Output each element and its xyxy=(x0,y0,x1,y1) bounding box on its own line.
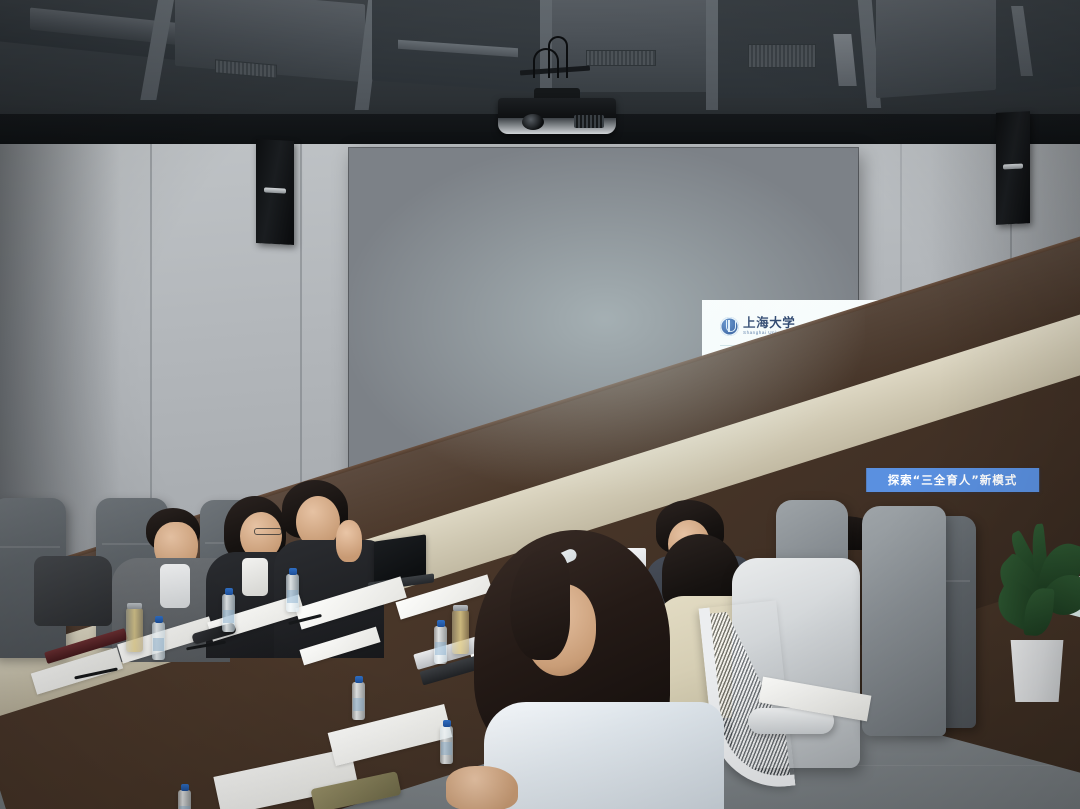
torso-white-shirt xyxy=(484,702,724,809)
projector-vent xyxy=(574,115,604,128)
office-chair xyxy=(862,506,946,736)
water-bottle[interactable] xyxy=(178,790,191,809)
potted-plant xyxy=(985,522,1080,707)
clasped-hands xyxy=(336,520,362,562)
conference-room-photo: 上海大学 Shanghai University （一）基本情况 导师 职责 思… xyxy=(0,0,1080,809)
hair-front-strand xyxy=(510,550,570,660)
slide-banner: 探索“三全育人”新模式 xyxy=(866,468,1040,492)
university-name-cn: 上海大学 xyxy=(743,317,795,330)
projector-cable-secondary xyxy=(548,36,568,78)
shirt-collar xyxy=(160,564,190,608)
foreground-woman-white-shirt xyxy=(440,530,730,809)
university-emblem-icon xyxy=(720,317,739,336)
water-bottle[interactable] xyxy=(352,682,365,720)
ceiling-projector xyxy=(494,88,620,136)
wall-speaker-left xyxy=(256,139,294,245)
hand xyxy=(446,766,518,809)
wall-speaker-right xyxy=(996,111,1030,225)
projector-body xyxy=(498,98,616,134)
water-bottle[interactable] xyxy=(286,574,299,612)
bag xyxy=(34,556,112,626)
water-bottle[interactable] xyxy=(152,622,165,660)
projector-lens xyxy=(522,114,544,130)
water-bottle[interactable] xyxy=(222,594,235,632)
tea-tumbler[interactable] xyxy=(126,608,143,652)
shirt-collar xyxy=(242,558,268,596)
water-bottle[interactable] xyxy=(440,726,453,764)
